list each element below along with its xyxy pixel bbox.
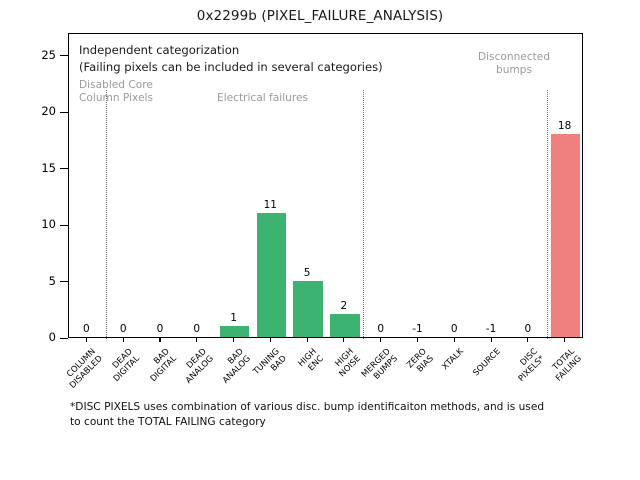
y-tick-label-10: 10 [16, 217, 56, 231]
y-tick-20 [60, 112, 68, 113]
y-tick-25 [60, 55, 68, 56]
x-tick-12 [527, 338, 528, 342]
x-tick-13 [564, 338, 565, 342]
annotation-disabled-core-column-pixels: Disabled Core Column Pixels [79, 79, 153, 105]
y-tick-label-0: 0 [16, 330, 56, 344]
bar-value-label-13: 18 [540, 120, 590, 132]
y-tick-label-5: 5 [16, 274, 56, 288]
bar-value-label-3: 0 [172, 323, 222, 335]
annotation-several-categories-note: (Failing pixels can be included in sever… [79, 59, 383, 75]
x-tick-11 [491, 338, 492, 342]
divider-after-column-disabled [106, 90, 107, 339]
y-tick-label-20: 20 [16, 104, 56, 118]
annotation-electrical-failures: Electrical failures [217, 92, 308, 105]
footnote: *DISC PIXELS uses combination of various… [70, 400, 590, 430]
bar-value-label-4: 1 [209, 312, 259, 324]
bar-value-label-5: 11 [245, 199, 295, 211]
annotation-independent-categorization: Independent categorization [79, 42, 239, 58]
x-tick-5 [270, 338, 271, 342]
y-tick-0 [60, 338, 68, 339]
bar-value-label-12: 0 [503, 323, 553, 335]
plot-area: Independent categorization (Failing pixe… [68, 33, 583, 338]
y-tick-10 [60, 225, 68, 226]
x-tick-10 [454, 338, 455, 342]
x-tick-3 [196, 338, 197, 342]
x-tick-8 [380, 338, 381, 342]
x-tick-1 [123, 338, 124, 342]
y-tick-5 [60, 281, 68, 282]
annotation-disconnected-bumps: Disconnected bumps [459, 51, 569, 77]
y-tick-label-15: 15 [16, 161, 56, 175]
bar-value-label-7: 2 [319, 300, 369, 312]
x-tick-0 [86, 338, 87, 342]
x-tick-7 [343, 338, 344, 342]
bar-13 [551, 134, 580, 337]
x-tick-9 [417, 338, 418, 342]
x-tick-2 [159, 338, 160, 342]
x-tick-4 [233, 338, 234, 342]
y-tick-label-25: 25 [16, 48, 56, 62]
chart-title: 0x2299b (PIXEL_FAILURE_ANALYSIS) [0, 8, 640, 24]
bar-value-label-6: 5 [282, 267, 332, 279]
x-tick-6 [307, 338, 308, 342]
y-tick-15 [60, 168, 68, 169]
bar-4 [220, 326, 249, 337]
